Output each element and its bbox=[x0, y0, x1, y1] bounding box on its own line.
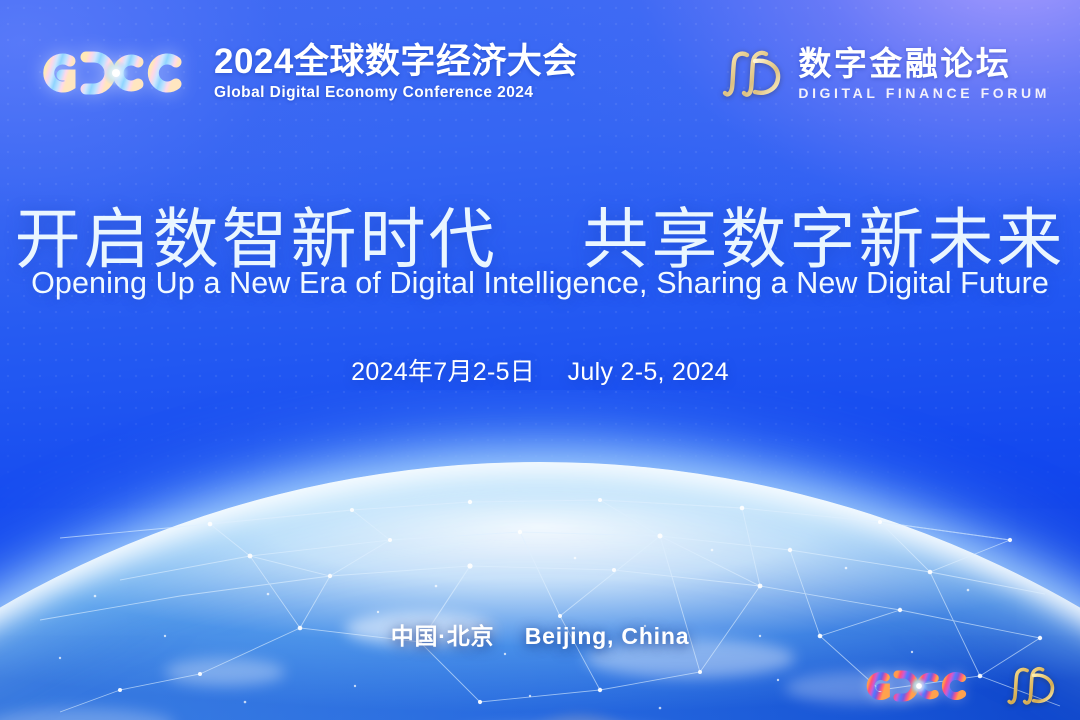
gdec-logo-text: 2024全球数字经济大会 Global Digital Economy Conf… bbox=[214, 44, 578, 102]
digital-finance-forum-logo: 数字金融论坛 DIGITAL FINANCE FORUM bbox=[722, 46, 1050, 101]
event-headline-en: Opening Up a New Era of Digital Intellig… bbox=[0, 266, 1080, 301]
headline-part-2: 共享数字新未来 bbox=[582, 202, 1065, 276]
dff-title-cn: 数字金融论坛 bbox=[798, 46, 1050, 82]
gdec-wordmark-icon bbox=[34, 45, 198, 101]
footer-gdec-wordmark-icon bbox=[860, 664, 978, 708]
conference-backdrop: 2024全球数字经济大会 Global Digital Economy Conf… bbox=[0, 0, 1080, 720]
gdec-title-en: Global Digital Economy Conference 2024 bbox=[214, 83, 578, 102]
event-location: 中国·北京 Beijing, China bbox=[0, 617, 1080, 651]
dff-logo-text: 数字金融论坛 DIGITAL FINANCE FORUM bbox=[798, 46, 1050, 101]
event-date-en: July 2-5, 2024 bbox=[568, 358, 729, 386]
gdec-title-cn: 2024全球数字经济大会 bbox=[214, 44, 578, 81]
event-location-en: Beijing, China bbox=[525, 623, 690, 649]
footer-logo-group bbox=[860, 664, 1058, 708]
gdec-logo: 2024全球数字经济大会 Global Digital Economy Conf… bbox=[34, 44, 578, 102]
ff-monogram-icon bbox=[722, 47, 784, 101]
event-date-cn: 2024年7月2-5日 bbox=[351, 358, 535, 386]
event-location-cn: 中国·北京 bbox=[391, 623, 495, 649]
headline-part-1: 开启数智新时代 bbox=[15, 202, 498, 276]
dff-title-en: DIGITAL FINANCE FORUM bbox=[798, 85, 1050, 102]
event-date: 2024年7月2-5日 July 2-5, 2024 bbox=[0, 352, 1080, 388]
footer-ff-monogram-icon bbox=[1006, 664, 1058, 708]
